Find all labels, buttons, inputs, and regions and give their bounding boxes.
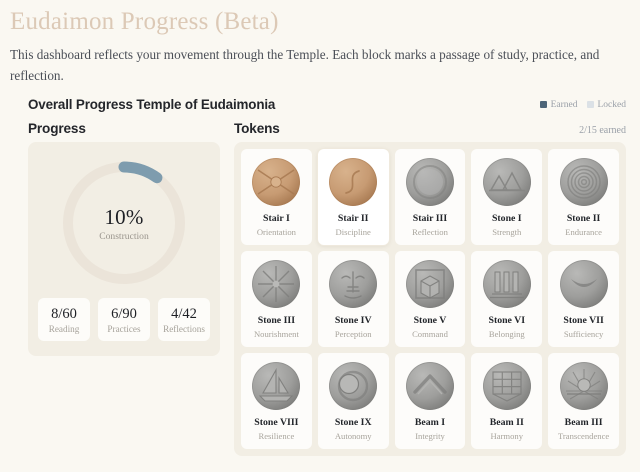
tokens-panel: Stair IOrientation Stair IIDiscipline St… <box>234 142 626 456</box>
mountains-icon <box>482 157 532 207</box>
page-description: This dashboard reflects your movement th… <box>8 41 632 87</box>
s-curve-icon <box>328 157 378 207</box>
progress-stats: 8/60 Reading 6/90 Practices 4/42 Reflect… <box>38 298 210 341</box>
token-card[interactable]: Stone IStrength <box>471 149 542 245</box>
token-virtue: Belonging <box>489 330 525 339</box>
page-title: Eudaimon Progress (Beta) <box>8 0 632 41</box>
legend-item-earned: Earned <box>540 100 578 110</box>
progress-phase-label: Construction <box>99 231 149 242</box>
token-card[interactable]: Beam IIntegrity <box>395 353 466 449</box>
stat-reflections-label: Reflections <box>160 324 208 334</box>
token-name: Beam III <box>565 418 603 429</box>
tokens-earned-meta: 2/15 earned <box>579 125 626 136</box>
plate-ring-icon <box>405 157 455 207</box>
tokens-section-title: Tokens <box>234 121 280 136</box>
token-card[interactable]: Stone VCommand <box>395 251 466 347</box>
main-columns: Progress 10% Construction <box>8 112 632 456</box>
cube-icon <box>405 259 455 309</box>
tokens-grid: Stair IOrientation Stair IIDiscipline St… <box>241 149 619 449</box>
stat-practices: 6/90 Practices <box>98 298 150 341</box>
token-name: Stair II <box>338 214 369 225</box>
ring-orb-icon <box>328 361 378 411</box>
progress-section-title: Progress <box>28 121 86 136</box>
token-virtue: Harmony <box>491 432 523 441</box>
token-virtue: Integrity <box>415 432 445 441</box>
stat-reflections-value: 4/42 <box>160 305 208 323</box>
token-card[interactable]: Stone IXAutonomy <box>318 353 389 449</box>
token-virtue: Command <box>412 330 448 339</box>
progress-ring-wrap: 10% Construction <box>38 152 210 294</box>
token-virtue: Transcendence <box>558 432 609 441</box>
legend: Earned Locked <box>540 100 626 110</box>
token-name: Stone V <box>414 316 447 327</box>
token-virtue: Orientation <box>257 228 296 237</box>
token-card[interactable]: Stone IIINourishment <box>241 251 312 347</box>
token-card[interactable]: Stair IIIReflection <box>395 149 466 245</box>
token-virtue: Strength <box>492 228 521 237</box>
token-name: Beam I <box>415 418 445 429</box>
stat-practices-label: Practices <box>100 324 148 334</box>
cross-dome-icon <box>251 157 301 207</box>
stat-practices-value: 6/90 <box>100 305 148 323</box>
token-name: Stone VIII <box>254 418 298 429</box>
stat-reading-value: 8/60 <box>40 305 88 323</box>
token-virtue: Nourishment <box>254 330 299 339</box>
token-card[interactable]: Stone IIEndurance <box>548 149 619 245</box>
overall-progress-title: Overall Progress Temple of Eudaimonia <box>28 97 275 112</box>
token-name: Stair III <box>413 214 447 225</box>
token-virtue: Perception <box>335 330 372 339</box>
token-name: Stone III <box>258 316 295 327</box>
lattice-icon <box>482 361 532 411</box>
progress-ring: 10% Construction <box>56 155 192 291</box>
starburst-icon <box>251 259 301 309</box>
legend-item-locked: Locked <box>587 100 627 110</box>
tokens-column: Tokens 2/15 earned Stair IOrientation <box>234 121 626 456</box>
dashboard-page: Eudaimon Progress (Beta) This dashboard … <box>0 0 640 472</box>
legend-label-earned: Earned <box>551 100 578 110</box>
token-name: Stone I <box>492 214 522 225</box>
stat-reading: 8/60 Reading <box>38 298 90 341</box>
legend-swatch-earned-icon <box>540 101 547 108</box>
stat-reading-label: Reading <box>40 324 88 334</box>
progress-section-head: Progress <box>28 121 220 136</box>
token-card[interactable]: Stone VIBelonging <box>471 251 542 347</box>
token-virtue: Endurance <box>565 228 602 237</box>
token-virtue: Autonomy <box>335 432 372 441</box>
columns-icon <box>482 259 532 309</box>
token-virtue: Discipline <box>336 228 371 237</box>
token-name: Stone VI <box>489 316 526 327</box>
legend-label-locked: Locked <box>598 100 627 110</box>
token-name: Beam II <box>490 418 524 429</box>
token-card[interactable]: Beam IIITranscendence <box>548 353 619 449</box>
token-name: Stone II <box>567 214 600 225</box>
ripple-circles-icon <box>559 157 609 207</box>
token-card[interactable]: Stone VIISufficiency <box>548 251 619 347</box>
overall-progress-bar: Overall Progress Temple of Eudaimonia Ea… <box>8 86 632 112</box>
sailboat-icon <box>251 361 301 411</box>
token-card[interactable]: Stone VIIIResilience <box>241 353 312 449</box>
token-card[interactable]: Stair IOrientation <box>241 149 312 245</box>
sunrise-rays-icon <box>559 361 609 411</box>
crescent-bowl-icon <box>559 259 609 309</box>
token-card[interactable]: Stair IIDiscipline <box>318 149 389 245</box>
token-name: Stone IV <box>335 316 372 327</box>
progress-column: Progress 10% Construction <box>28 121 220 456</box>
stat-reflections: 4/42 Reflections <box>158 298 210 341</box>
tokens-section-head: Tokens 2/15 earned <box>234 121 626 136</box>
token-card[interactable]: Beam IIHarmony <box>471 353 542 449</box>
token-name: Stair I <box>263 214 290 225</box>
progress-card: 10% Construction 8/60 Reading 6/90 Pract… <box>28 142 220 356</box>
token-name: Stone VII <box>563 316 603 327</box>
progress-percent: 10% <box>104 205 143 230</box>
legend-swatch-locked-icon <box>587 101 594 108</box>
token-name: Stone IX <box>335 418 372 429</box>
token-card[interactable]: Stone IVPerception <box>318 251 389 347</box>
token-virtue: Resilience <box>259 432 295 441</box>
progress-ring-center: 10% Construction <box>56 155 192 291</box>
token-virtue: Sufficiency <box>564 330 603 339</box>
chevron-roof-icon <box>405 361 455 411</box>
token-virtue: Reflection <box>412 228 448 237</box>
face-icon <box>328 259 378 309</box>
